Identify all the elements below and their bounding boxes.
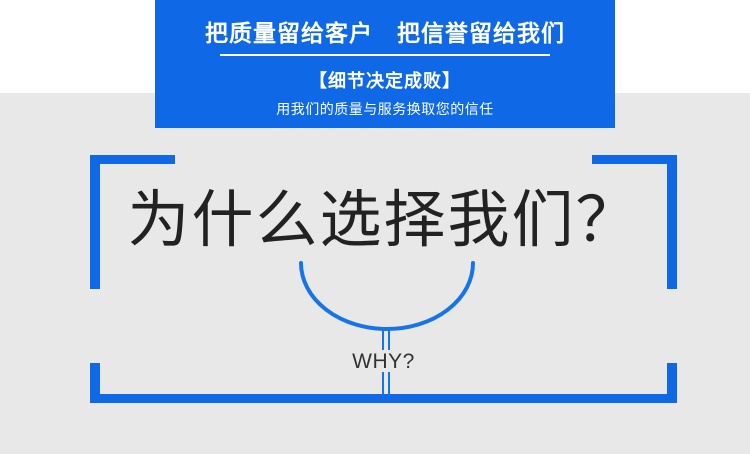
main-heading: 为什么选择我们？ (90, 182, 677, 260)
connector-line-top-right (388, 328, 390, 350)
bracket-corner-top-left-horizontal (90, 155, 175, 164)
u-arc-path (301, 263, 473, 329)
header-banner: 把质量留给客户 把信誉留给我们 【细节决定成败】 用我们的质量与服务换取您的信任 (155, 0, 615, 128)
promotional-banner-page: 把质量留给客户 把信誉留给我们 【细节决定成败】 用我们的质量与服务换取您的信任… (0, 0, 750, 454)
connector-line-bottom-left (382, 372, 384, 395)
banner-subtitle-secondary: 用我们的质量与服务换取您的信任 (155, 99, 615, 119)
connector-line-top-left (382, 328, 384, 350)
connector-line-bottom-right (388, 372, 390, 395)
banner-subtitle-bracketed: 【细节决定成败】 (155, 68, 615, 94)
u-arc-svg (297, 258, 477, 333)
why-label: WHY? (90, 351, 677, 372)
banner-title: 把质量留给客户 把信誉留给我们 (155, 18, 615, 48)
banner-divider-line (220, 54, 550, 56)
u-shaped-arc (297, 258, 477, 333)
bracket-corner-top-right-horizontal (592, 155, 677, 164)
bracket-bottom-horizontal-bar (90, 394, 677, 403)
